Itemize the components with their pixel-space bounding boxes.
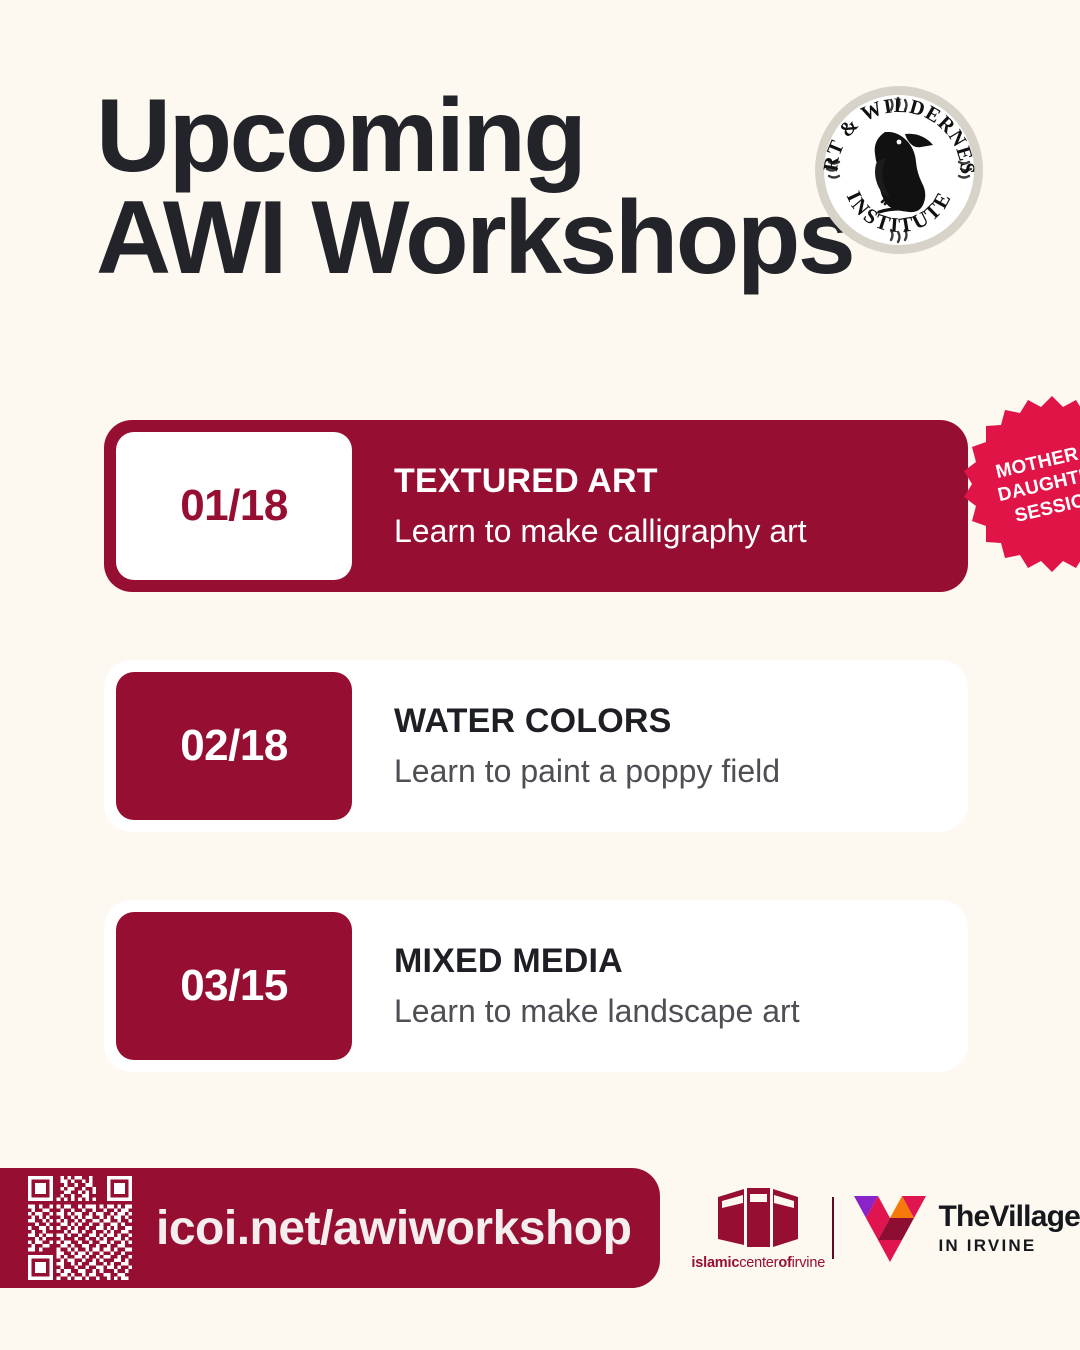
workshop-card[interactable]: 01/18 TEXTURED ART Learn to make calligr… bbox=[104, 420, 968, 592]
poster-header: Upcoming AWI Workshops ART & bbox=[0, 0, 1080, 380]
poster-footer: icoi.net/awiworkshop islamiccente bbox=[0, 1168, 1080, 1288]
starburst-icon bbox=[962, 394, 1080, 574]
workshop-date-chip: 02/18 bbox=[116, 672, 352, 820]
partner-logos: islamiccenterofirvine TheVillage IN IRVI… bbox=[690, 1168, 1080, 1288]
art-wilderness-institute-logo: ART & WILDERNESS INSTITUTE bbox=[813, 84, 985, 256]
village-title: TheVillage bbox=[938, 1202, 1080, 1232]
icoi-word-irvine: irvine bbox=[792, 1255, 825, 1271]
workshop-title: WATER COLORS bbox=[394, 702, 956, 741]
partner-divider bbox=[832, 1197, 834, 1259]
workshop-date: 01/18 bbox=[180, 481, 288, 531]
the-village-in-irvine-logo: TheVillage IN IRVINE bbox=[852, 1192, 1080, 1264]
workshop-card[interactable]: 03/15 MIXED MEDIA Learn to make landscap… bbox=[104, 900, 968, 1072]
workshop-card[interactable]: 02/18 WATER COLORS Learn to paint a popp… bbox=[104, 660, 968, 832]
workshop-title: MIXED MEDIA bbox=[394, 942, 956, 981]
village-wordmark: TheVillage IN IRVINE bbox=[938, 1202, 1080, 1254]
islamic-center-of-irvine-logo: islamiccenterofirvine bbox=[690, 1185, 826, 1271]
icoi-word-of: of bbox=[778, 1255, 791, 1271]
workshop-date: 03/15 bbox=[180, 961, 288, 1011]
workshop-text: TEXTURED ART Learn to make calligraphy a… bbox=[352, 462, 956, 550]
workshop-date-chip: 03/15 bbox=[116, 912, 352, 1060]
icoi-wordmark: islamiccenterofirvine bbox=[691, 1255, 825, 1271]
title-line-1: Upcoming bbox=[96, 78, 584, 194]
cta-bar[interactable]: icoi.net/awiworkshop bbox=[0, 1168, 660, 1288]
icoi-word-center: center bbox=[739, 1255, 778, 1271]
workshop-text: WATER COLORS Learn to paint a poppy fiel… bbox=[352, 702, 956, 790]
kaaba-cube-icon bbox=[712, 1185, 804, 1251]
poster-canvas: Upcoming AWI Workshops ART & bbox=[0, 0, 1080, 1350]
title-line-2: AWI Workshops bbox=[96, 188, 796, 290]
workshop-title: TEXTURED ART bbox=[394, 462, 956, 501]
workshop-subtitle: Learn to make calligraphy art bbox=[394, 513, 956, 550]
workshop-text: MIXED MEDIA Learn to make landscape art bbox=[352, 942, 956, 1030]
icoi-word-islamic: islamic bbox=[691, 1255, 739, 1271]
page-title: Upcoming AWI Workshops bbox=[96, 86, 796, 290]
workshop-subtitle: Learn to make landscape art bbox=[394, 993, 956, 1030]
workshop-url[interactable]: icoi.net/awiworkshop bbox=[156, 1201, 631, 1256]
workshop-list: 01/18 TEXTURED ART Learn to make calligr… bbox=[0, 420, 1080, 1072]
village-v-icon bbox=[852, 1192, 928, 1264]
qr-code-icon[interactable] bbox=[28, 1176, 132, 1280]
workshop-date-chip: 01/18 bbox=[116, 432, 352, 580]
village-subtitle: IN IRVINE bbox=[938, 1237, 1080, 1254]
workshop-date: 02/18 bbox=[180, 721, 288, 771]
status-badge: MOTHER & DAUGHTER SESSION bbox=[962, 394, 1080, 574]
workshop-subtitle: Learn to paint a poppy field bbox=[394, 753, 956, 790]
